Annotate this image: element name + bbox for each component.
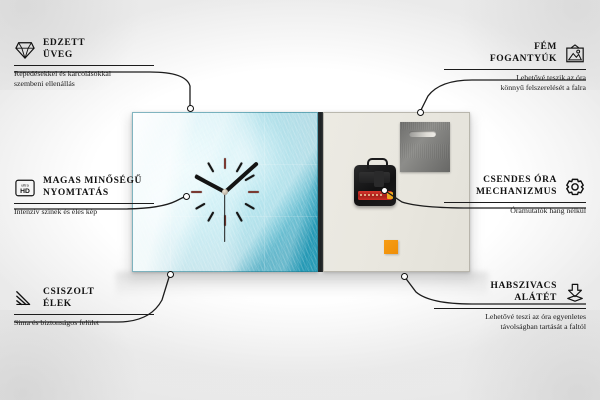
- callout-dot-tempered-glass: [187, 105, 194, 112]
- callout-subtitle-foam-pad-1: Lehetővé teszi az óra egyenletes: [426, 312, 586, 322]
- callout-subtitle-metal-handles-2: könnyű felszerelését a falra: [436, 83, 586, 93]
- callout-header-foam-pad: HABSZIVACS ALÁTÉT: [426, 281, 586, 304]
- callout-dot-high-quality-print: [183, 193, 190, 200]
- callout-high-quality-print: ultra HD MAGAS MINŐSÉGŰ NYOMTATÁS Intenz…: [14, 176, 164, 217]
- product-photo: [132, 112, 470, 274]
- callout-title-polished-edges: CSISZOLT ÉLEK: [43, 287, 94, 310]
- callout-dot-polished-edges: [167, 271, 174, 278]
- callout-dot-quiet-mechanism: [381, 187, 388, 194]
- callout-subtitle-tempered-glass-1: Repedésekkel és karcolásokkal: [14, 69, 162, 79]
- callout-rule-tempered-glass: [14, 65, 154, 66]
- diamond-icon: [14, 40, 36, 60]
- callout-dot-foam-pad: [401, 273, 408, 280]
- callout-title-tempered-glass: EDZETT ÜVEG: [43, 38, 85, 61]
- callout-header-tempered-glass: EDZETT ÜVEG: [14, 38, 162, 61]
- callout-title-quiet-mechanism: CSENDES ÓRA MECHANIZMUS: [476, 175, 557, 198]
- callout-subtitle-high-quality-print-1: Intenzív színek és éles kép: [14, 207, 164, 217]
- callout-metal-handles: FÉM FOGANTYÚK Lehetővé teszik az óra kön…: [436, 42, 586, 92]
- callout-rule-metal-handles: [444, 69, 586, 70]
- infographic-stage: EDZETT ÜVEG Repedésekkel és karcolásokka…: [0, 0, 600, 400]
- callout-tempered-glass: EDZETT ÜVEG Repedésekkel és karcolásokka…: [14, 38, 162, 88]
- svg-text:ultra: ultra: [21, 183, 29, 187]
- callout-title-foam-pad: HABSZIVACS ALÁTÉT: [490, 281, 557, 304]
- polished-edge-icon: [14, 289, 36, 309]
- callout-rule-quiet-mechanism: [444, 202, 586, 203]
- svg-text:HD: HD: [20, 187, 30, 194]
- callout-rule-high-quality-print: [14, 203, 154, 204]
- callout-dot-metal-handles: [417, 109, 424, 116]
- picture-frame-hanger-icon: [564, 44, 586, 64]
- callout-subtitle-polished-edges-1: Sima és biztonságos felület: [14, 318, 162, 328]
- callout-foam-pad: HABSZIVACS ALÁTÉT Lehetővé teszi az óra …: [426, 281, 586, 331]
- callout-rule-polished-edges: [14, 314, 154, 315]
- callout-subtitle-tempered-glass-2: szembeni ellenállás: [14, 79, 162, 89]
- callout-polished-edges: CSISZOLT ÉLEK Sima és biztonságos felüle…: [14, 287, 162, 328]
- callout-header-quiet-mechanism: CSENDES ÓRA MECHANIZMUS: [434, 175, 586, 198]
- callout-subtitle-metal-handles-1: Lehetővé teszik az óra: [436, 73, 586, 83]
- callout-title-high-quality-print: MAGAS MINŐSÉGŰ NYOMTATÁS: [43, 176, 142, 199]
- callout-quiet-mechanism: CSENDES ÓRA MECHANIZMUS Óramutatók hang …: [434, 175, 586, 216]
- callout-subtitle-foam-pad-2: távolságban tartását a faltól: [426, 322, 586, 332]
- callout-title-metal-handles: FÉM FOGANTYÚK: [490, 42, 557, 65]
- foam-pad-arrow-icon: [564, 283, 586, 303]
- callout-header-high-quality-print: ultra HD MAGAS MINŐSÉGŰ NYOMTATÁS: [14, 176, 164, 199]
- callout-rule-foam-pad: [434, 308, 586, 309]
- callout-subtitle-quiet-mechanism-1: Óramutatók hang nélkül: [434, 206, 586, 216]
- callout-header-metal-handles: FÉM FOGANTYÚK: [436, 42, 586, 65]
- callout-header-polished-edges: CSISZOLT ÉLEK: [14, 287, 162, 310]
- ultra-hd-icon: ultra HD: [14, 178, 36, 198]
- gear-icon: [564, 177, 586, 197]
